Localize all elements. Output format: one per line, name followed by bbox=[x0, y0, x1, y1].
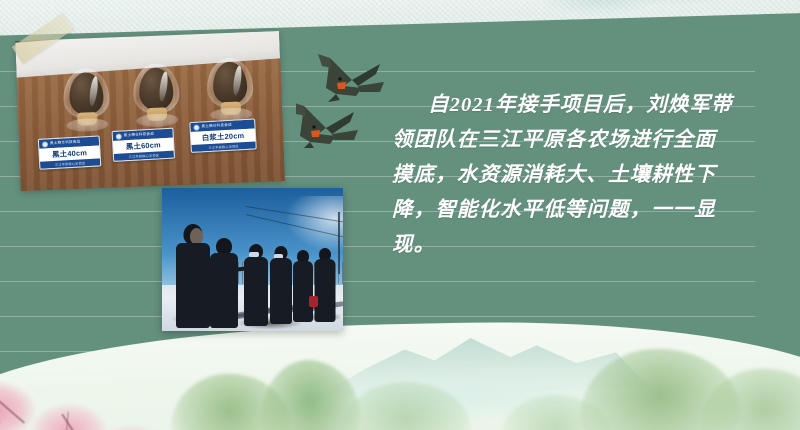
article-text-block: 自2021年接手项目后，刘焕军带 领团队在三江平原各农场进行全面 摸底，水资源消… bbox=[392, 88, 738, 263]
top-watercolor-band bbox=[0, 0, 800, 36]
soil-sample-jar bbox=[132, 63, 180, 127]
swallow-svg bbox=[296, 52, 388, 148]
poster-canvas: 黑土粮仓科技会战 黑土40cm 三江平原核心示范区 黑土粮仓科技会战 黑土60c… bbox=[0, 0, 800, 430]
person-figure bbox=[176, 224, 210, 328]
sample-label-plaque: 黑土粮仓科技会战 白浆土20cm 三江平原核心示范区 bbox=[189, 118, 257, 153]
red-bag bbox=[309, 296, 318, 307]
bottom-watercolor-landscape bbox=[0, 314, 800, 430]
sample-label-plaque: 黑土粮仓科技会战 黑土40cm 三江平原核心示范区 bbox=[38, 135, 102, 169]
article-line: 降，智能化水平低等问题，一一显 bbox=[392, 193, 738, 228]
swallow-icon bbox=[296, 102, 358, 148]
article-line: 现。 bbox=[392, 228, 738, 263]
plaque-org-label: 黑土粮仓科技会战 bbox=[50, 140, 81, 147]
person-figure bbox=[293, 250, 313, 322]
soil-sample-jar bbox=[206, 57, 254, 121]
cherry-blossom-trees bbox=[0, 359, 170, 430]
emblem-icon bbox=[193, 124, 199, 130]
article-line: 自2021年接手项目后，刘焕军带 bbox=[392, 88, 738, 123]
person-figure bbox=[314, 248, 335, 322]
field-survey-group-photo[interactable] bbox=[162, 188, 343, 331]
sample-label-plaque: 黑土粮仓科技会战 黑土60cm 三江平原核心示范区 bbox=[111, 128, 175, 162]
rule-line bbox=[0, 281, 755, 282]
person-figure bbox=[210, 238, 238, 328]
person-figure bbox=[270, 246, 292, 324]
plaque-org-label: 黑土粮仓科技会战 bbox=[201, 123, 232, 130]
emblem-icon bbox=[42, 141, 48, 147]
swallow-icon bbox=[318, 54, 384, 102]
soil-sample-display-photo[interactable]: 黑土粮仓科技会战 黑土40cm 三江平原核心示范区 黑土粮仓科技会战 黑土60c… bbox=[15, 31, 285, 191]
article-line: 摸底，水资源消耗大、土壤耕性下 bbox=[392, 158, 738, 193]
article-line: 领团队在三江平原各农场进行全面 bbox=[392, 123, 738, 158]
soil-sample-jar bbox=[62, 68, 110, 132]
swallow-birds-illustration bbox=[296, 52, 388, 148]
person-figure bbox=[244, 244, 268, 326]
emblem-icon bbox=[116, 133, 122, 139]
rule-line bbox=[0, 316, 755, 317]
plaque-org-label: 黑土粮仓科技会战 bbox=[124, 132, 155, 139]
